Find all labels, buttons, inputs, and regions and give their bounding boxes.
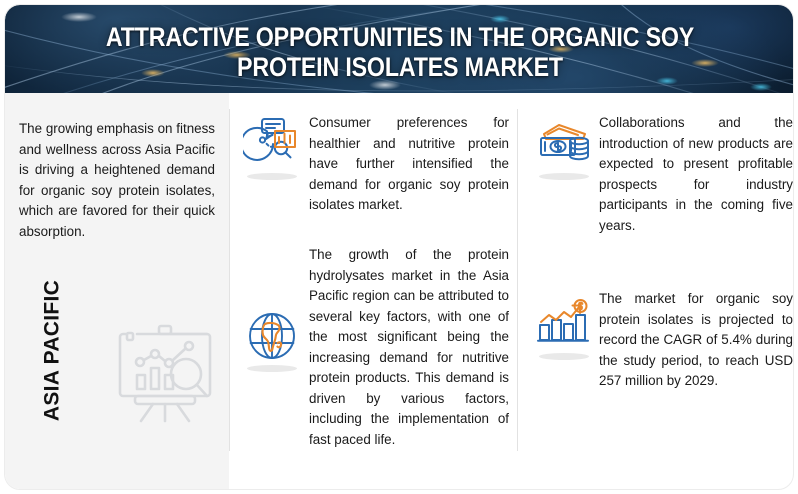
header-banner: ATTRACTIVE OPPORTUNITIES IN THE ORGANIC … bbox=[5, 5, 794, 93]
middle-column: Consumer preferences for healthier and n… bbox=[229, 93, 517, 489]
icon-shadow bbox=[539, 353, 589, 360]
body-area: The growing emphasis on fitness and well… bbox=[5, 93, 794, 489]
growth-bar-chart-dollar-icon bbox=[535, 295, 593, 353]
left-column: The growing emphasis on fitness and well… bbox=[5, 93, 229, 489]
infographic-root: ATTRACTIVE OPPORTUNITIES IN THE ORGANIC … bbox=[0, 0, 798, 494]
infographic-frame: ATTRACTIVE OPPORTUNITIES IN THE ORGANIC … bbox=[4, 4, 794, 490]
money-cash-coins-icon bbox=[535, 115, 593, 173]
icon-shadow bbox=[247, 365, 297, 372]
icon-shadow bbox=[247, 173, 297, 180]
insight-card-text: Consumer preferences for healthier and n… bbox=[309, 113, 509, 216]
insight-card-text: Collaborations and the introduction of n… bbox=[599, 113, 793, 236]
region-label: ASIA PACIFIC bbox=[41, 276, 64, 426]
globe-icon bbox=[243, 307, 301, 365]
right-column: Collaborations and the introduction of n… bbox=[517, 93, 794, 489]
banner-title: ATTRACTIVE OPPORTUNITIES IN THE ORGANIC … bbox=[60, 22, 739, 82]
icon-shadow bbox=[539, 173, 589, 180]
region-block: ASIA PACIFIC bbox=[5, 283, 229, 463]
insight-card-text: The growth of the protein hydrolysates m… bbox=[309, 245, 509, 450]
presentation-chart-magnifier-icon bbox=[113, 321, 217, 425]
market-research-chart-icon bbox=[243, 115, 301, 173]
insight-card-text: The market for organic soy protein isola… bbox=[599, 289, 793, 392]
left-column-paragraph: The growing emphasis on fitness and well… bbox=[19, 119, 215, 242]
